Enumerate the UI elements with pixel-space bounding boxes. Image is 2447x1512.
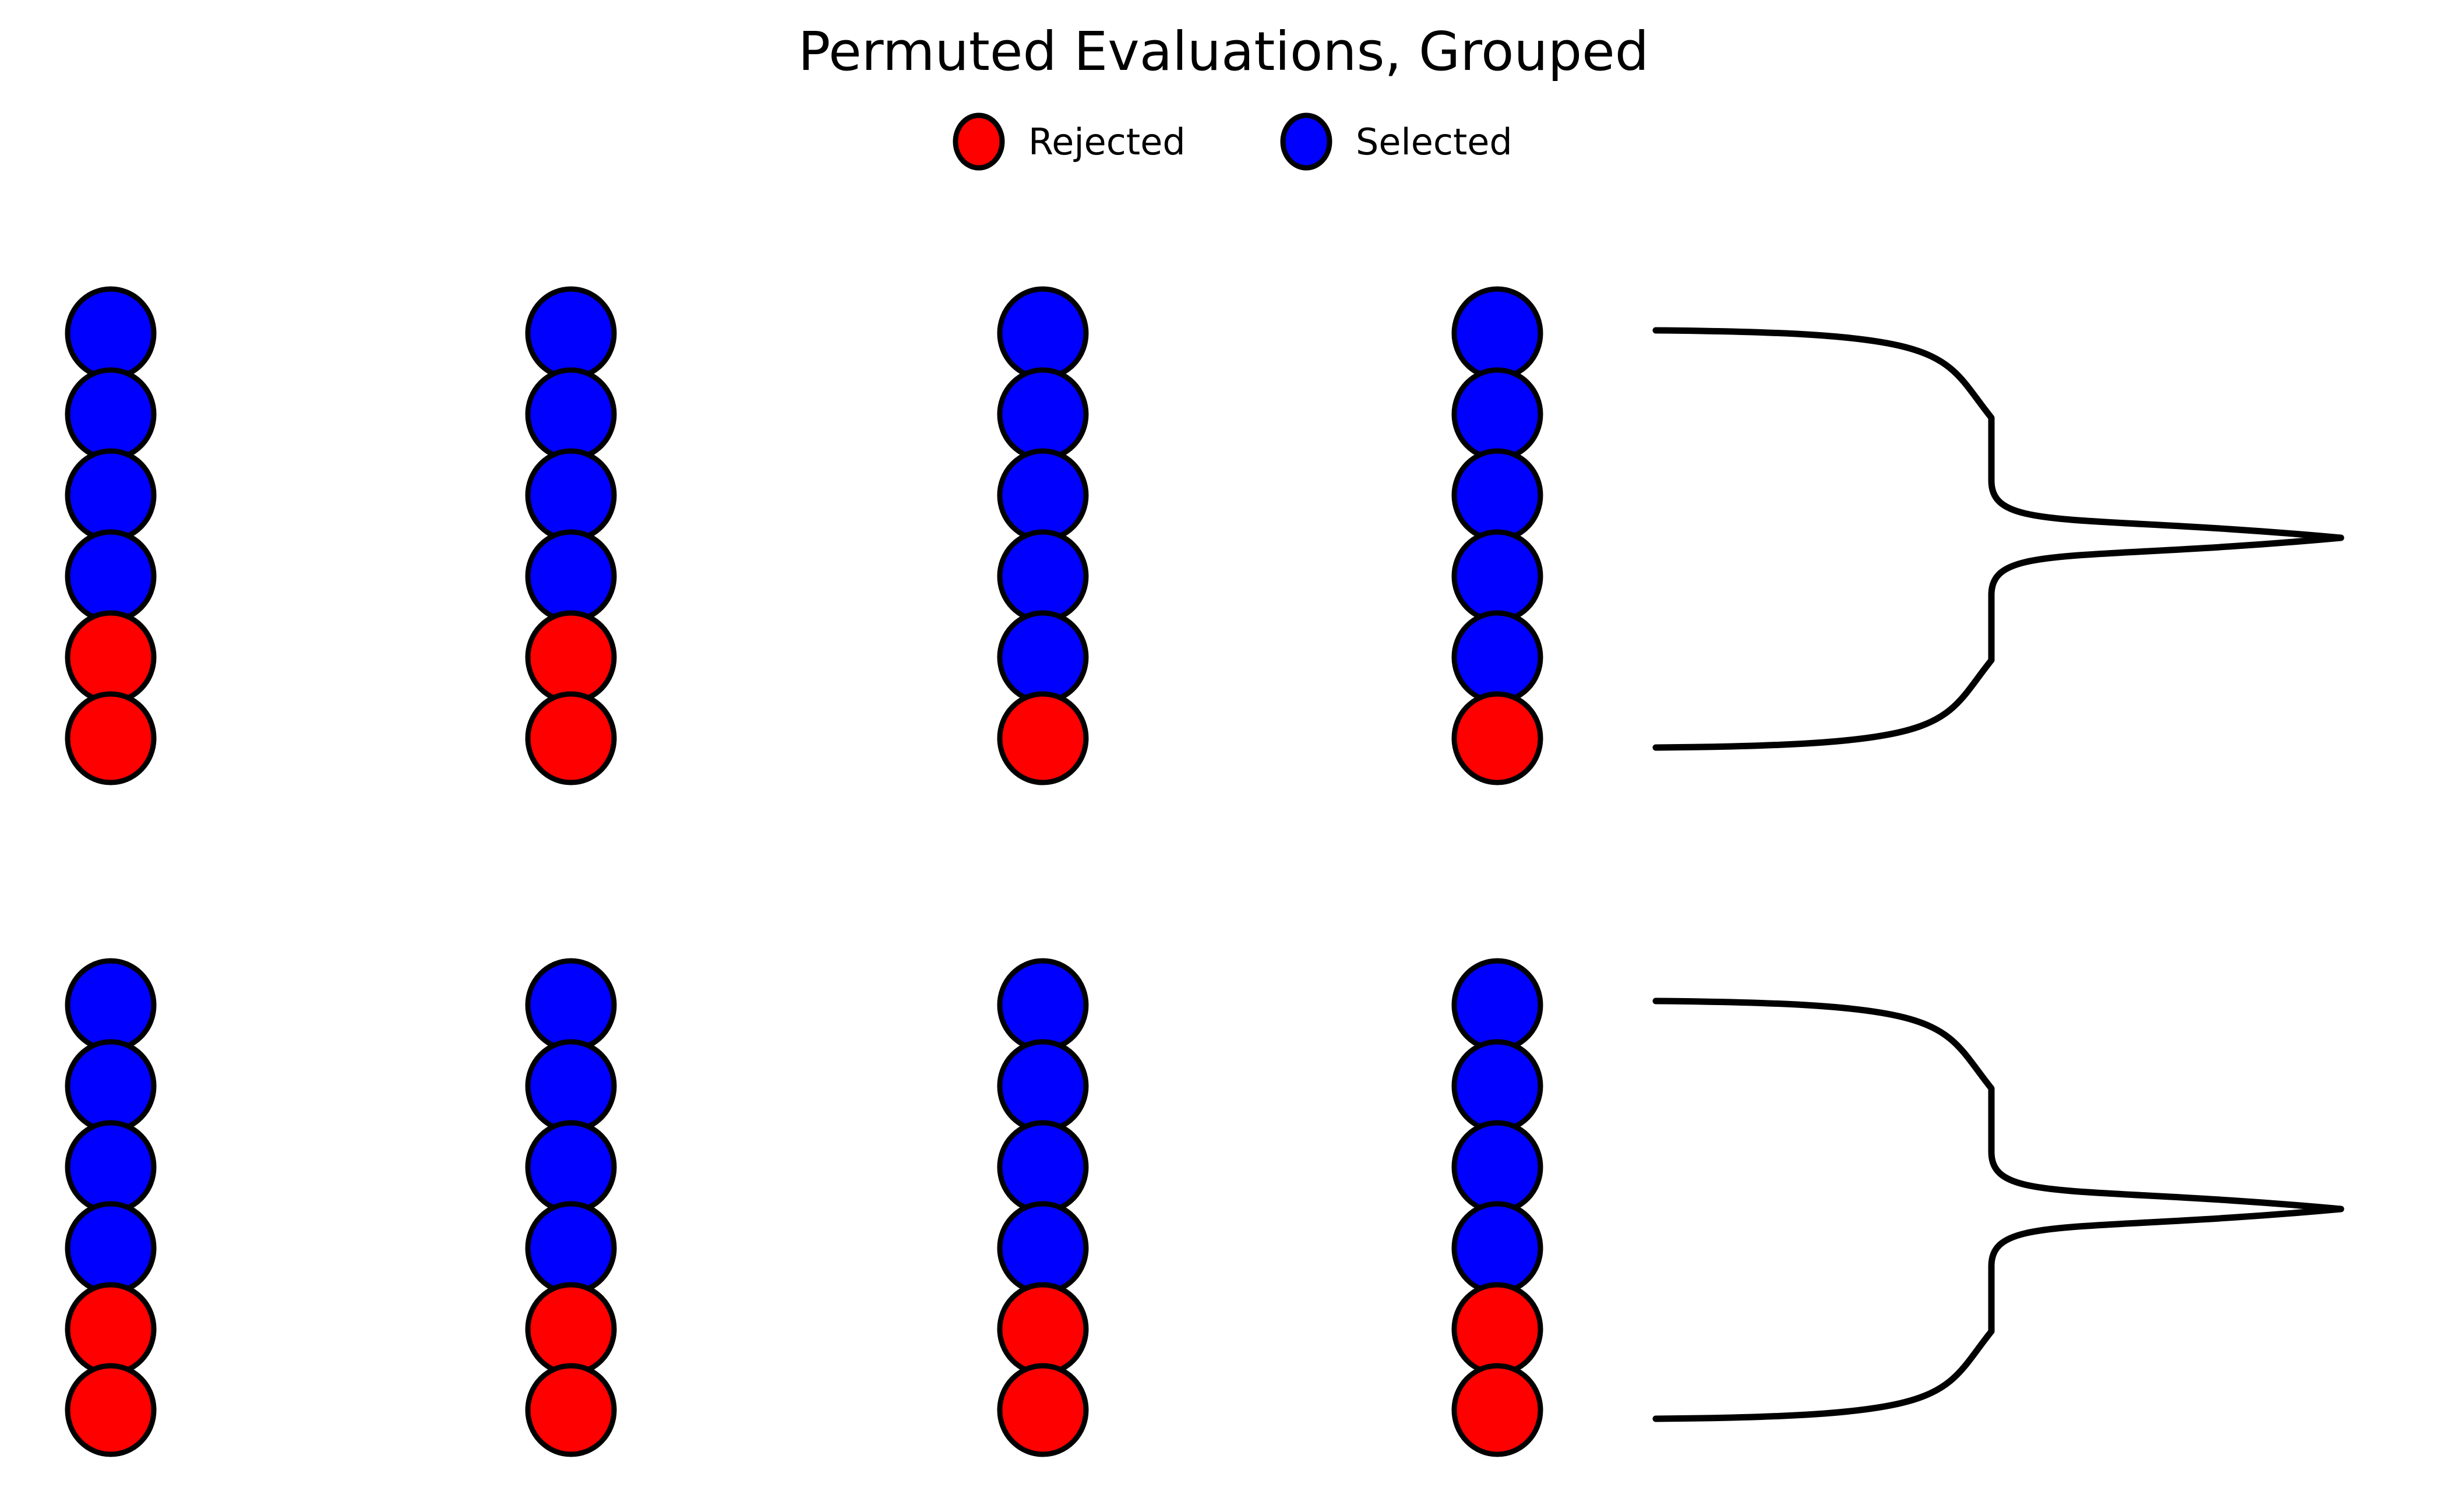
marker-selected[interactable] [528,289,614,378]
marker-selected[interactable] [1454,961,1540,1049]
marker-selected[interactable] [68,1204,154,1292]
marker-selected[interactable] [1454,532,1540,621]
marker-selected[interactable] [1000,1204,1086,1292]
marker-rejected[interactable] [1454,694,1540,783]
marker-selected[interactable] [1454,370,1540,459]
marker-rejected[interactable] [68,1366,154,1454]
marker-selected[interactable] [68,289,154,378]
marker-selected[interactable] [68,1042,154,1130]
marker-selected[interactable] [1454,613,1540,702]
marker-rejected[interactable] [528,613,614,702]
marker-selected[interactable] [528,1123,614,1211]
figure-canvas: Permuted Evaluations, Grouped RejectedSe… [0,0,2447,1512]
legend-marker-selected[interactable] [1283,115,1330,168]
marker-rejected[interactable] [1454,1285,1540,1373]
marker-selected[interactable] [1454,1204,1540,1292]
marker-selected[interactable] [68,1123,154,1211]
permuted-evaluations-plot: Permuted Evaluations, Grouped RejectedSe… [0,0,2447,1512]
page-title: Permuted Evaluations, Grouped [798,20,1649,83]
marker-selected[interactable] [1454,289,1540,378]
marker-rejected[interactable] [1000,1285,1086,1373]
marker-rejected[interactable] [1454,1366,1540,1454]
marker-selected[interactable] [1000,613,1086,702]
marker-rejected[interactable] [68,694,154,783]
legend-label-rejected: Rejected [1028,121,1186,163]
marker-selected[interactable] [528,451,614,540]
marker-rejected[interactable] [1000,1366,1086,1454]
marker-selected[interactable] [1000,451,1086,540]
marker-rejected[interactable] [528,1366,614,1454]
legend-label-selected: Selected [1356,121,1512,163]
legend-marker-rejected[interactable] [955,115,1002,168]
marker-selected[interactable] [68,961,154,1049]
marker-rejected[interactable] [68,613,154,702]
marker-selected[interactable] [1000,1123,1086,1211]
marker-selected[interactable] [68,370,154,459]
plot-background [0,0,2447,1512]
marker-selected[interactable] [1000,370,1086,459]
marker-selected[interactable] [1454,451,1540,540]
marker-selected[interactable] [1000,289,1086,378]
marker-selected[interactable] [528,961,614,1049]
marker-rejected[interactable] [1000,694,1086,783]
marker-rejected[interactable] [528,1285,614,1373]
marker-selected[interactable] [1454,1123,1540,1211]
marker-selected[interactable] [1000,961,1086,1049]
marker-selected[interactable] [1454,1042,1540,1130]
marker-selected[interactable] [528,1042,614,1130]
marker-selected[interactable] [68,451,154,540]
marker-selected[interactable] [1000,532,1086,621]
marker-selected[interactable] [528,1204,614,1292]
marker-rejected[interactable] [528,694,614,783]
marker-selected[interactable] [528,532,614,621]
marker-selected[interactable] [68,532,154,621]
marker-selected[interactable] [1000,1042,1086,1130]
marker-rejected[interactable] [68,1285,154,1373]
marker-selected[interactable] [528,370,614,459]
